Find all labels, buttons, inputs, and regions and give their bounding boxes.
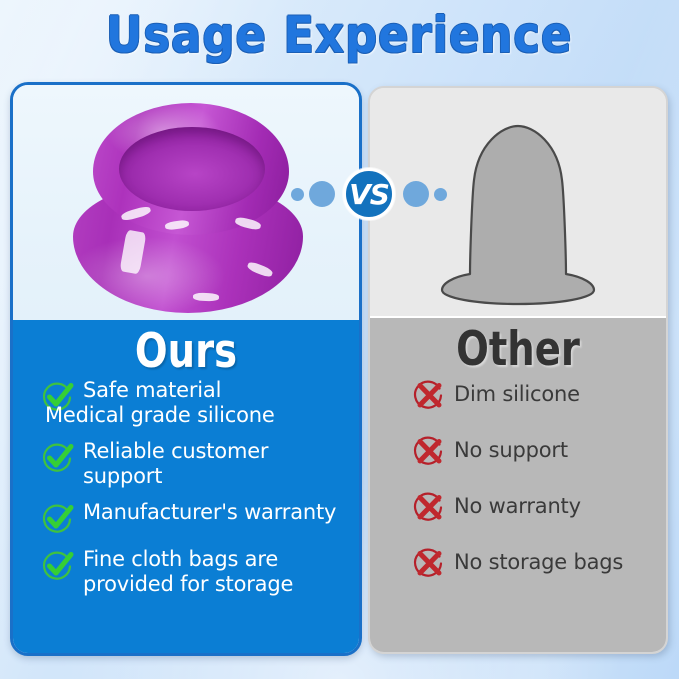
list-item-label: No storage bags xyxy=(454,550,623,575)
list-item-label: Reliable customer support xyxy=(83,439,268,489)
decorative-dot xyxy=(403,181,429,207)
infographic-root: Usage Experience Ours xyxy=(0,0,679,679)
list-item-label: Dim silicone xyxy=(454,382,580,407)
title-container: Usage Experience xyxy=(0,6,679,64)
list-item: Manufacturer's warranty xyxy=(41,500,353,536)
versus-divider: VS xyxy=(289,168,449,220)
page-title: Usage Experience xyxy=(106,6,572,64)
list-item-line2: provided for storage xyxy=(83,572,293,596)
list-item: No warranty xyxy=(412,488,660,524)
list-item: Dim silicone xyxy=(412,376,660,412)
other-feature-section: Other Dim silicone xyxy=(370,318,666,654)
list-item: Safe material Medical grade silicone xyxy=(41,378,353,428)
x-circle-icon xyxy=(412,546,446,580)
check-circle-icon xyxy=(41,549,75,583)
x-circle-icon xyxy=(412,434,446,468)
decorative-dot xyxy=(291,188,304,201)
list-item-label: Manufacturer's warranty xyxy=(83,500,336,525)
other-feature-list: Dim silicone No support xyxy=(370,376,666,580)
list-item: No storage bags xyxy=(412,544,660,580)
check-circle-icon xyxy=(41,441,75,475)
list-item-label: No warranty xyxy=(454,494,581,519)
list-item-label: No support xyxy=(454,438,568,463)
x-circle-icon xyxy=(412,490,446,524)
gray-cup-icon xyxy=(428,106,608,306)
other-heading: Other xyxy=(397,318,640,376)
x-circle-icon xyxy=(412,378,446,412)
check-circle-icon xyxy=(41,502,75,536)
ours-feature-section: Ours Safe material Medical grade silicon… xyxy=(13,320,359,653)
list-item-line1: Fine cloth bags are xyxy=(83,547,278,571)
decorative-dot xyxy=(434,188,447,201)
list-item-line2: Medical grade silicone xyxy=(45,403,275,428)
purple-cup-icon xyxy=(65,103,311,317)
cup-bowl-shape xyxy=(119,127,265,211)
decorative-dot xyxy=(309,181,335,207)
cup-highlight xyxy=(193,293,219,302)
list-item-label: Safe material Medical grade silicone xyxy=(83,378,275,428)
list-item-label: Fine cloth bags are provided for storage xyxy=(83,547,293,597)
list-item-line1: Safe material xyxy=(83,378,221,402)
ours-heading: Ours xyxy=(44,320,328,378)
ours-feature-list: Safe material Medical grade silicone Rel… xyxy=(13,378,359,597)
list-item: Reliable customer support xyxy=(41,439,353,489)
list-item: Fine cloth bags are provided for storage xyxy=(41,547,353,597)
vs-badge: VS xyxy=(343,168,395,220)
list-item-line2: support xyxy=(83,464,162,488)
list-item-line1: Reliable customer xyxy=(83,439,268,463)
vs-label: VS xyxy=(346,171,392,217)
list-item: No support xyxy=(412,432,660,468)
